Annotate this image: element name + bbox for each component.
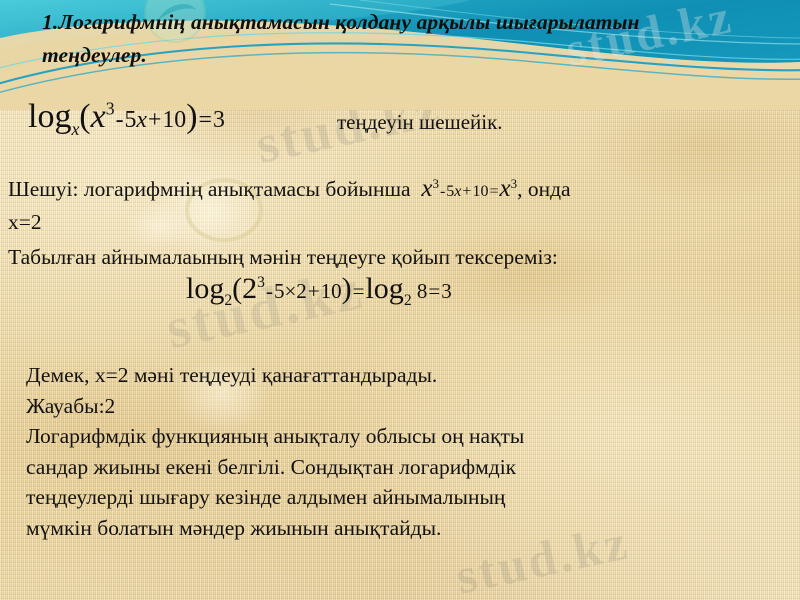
equation-1: logx(x3-5x+10)=3 bbox=[28, 100, 225, 134]
equation-2-result: 3 bbox=[441, 279, 452, 303]
conclusion-line: мүмкін болатын мәндер жиынын анықтайды. bbox=[26, 513, 726, 544]
plus-sign: + bbox=[461, 183, 472, 200]
exponent-3: 3 bbox=[432, 176, 439, 191]
plus-sign: + bbox=[147, 107, 162, 133]
log-word: log bbox=[28, 98, 71, 135]
paren-close: ) bbox=[342, 272, 352, 305]
log-base: 2 bbox=[404, 292, 412, 309]
paren-open: ( bbox=[79, 98, 90, 135]
variable-x: x bbox=[421, 175, 432, 202]
constant-10: 10 bbox=[162, 107, 186, 133]
minus-sign: - bbox=[265, 279, 274, 303]
conclusion-paragraph: Демек, x=2 мәні теңдеуді қанағаттандырад… bbox=[26, 360, 726, 543]
paren-close: ) bbox=[186, 98, 197, 135]
variable-x: x bbox=[136, 107, 147, 133]
equation-1-expression: logx(x3-5x+10)=3 bbox=[28, 98, 225, 135]
exponent-3: 3 bbox=[257, 274, 265, 291]
slide-content: 1.Логарифмнің анықтамасын қолдану арқылы… bbox=[0, 0, 800, 600]
conclusion-line: сандар жиыны екені белгілі. Сондықтан ло… bbox=[26, 452, 726, 483]
conclusion-line: теңдеулерді шығару кезінде алдымен айным… bbox=[26, 482, 726, 513]
conclusion-line: Логарифмдік функцияның анықталу облысы о… bbox=[26, 421, 726, 452]
constant-10: 10 bbox=[472, 183, 488, 200]
paren-open: ( bbox=[232, 272, 242, 305]
conclusion-line: Жауабы:2 bbox=[26, 391, 726, 422]
equation-2: log2(23-5×2+10)=log2 8=3 bbox=[186, 274, 452, 304]
log-base: 2 bbox=[224, 292, 232, 309]
equals-sign: = bbox=[427, 279, 441, 303]
log-word: log bbox=[365, 272, 403, 305]
equals-sign: = bbox=[352, 279, 366, 303]
x-value: x=2 bbox=[8, 210, 42, 235]
plus-sign: + bbox=[307, 279, 321, 303]
conclusion-line: Демек, x=2 мәні теңдеуді қанағаттандырад… bbox=[26, 360, 726, 391]
operand-2: 2 bbox=[296, 279, 307, 303]
log-value-8: 8 bbox=[417, 279, 428, 303]
note-solve-equation: теңдеуін шешейік. bbox=[337, 110, 503, 135]
solution-prefix: Шешуі: логарифмнің анықтамасы бойынша bbox=[8, 177, 411, 201]
constant-10: 10 bbox=[321, 279, 342, 303]
coefficient-5: 5 bbox=[274, 279, 285, 303]
number-2: 2 bbox=[242, 272, 257, 305]
multiply-sign: × bbox=[284, 279, 296, 303]
exponent-3: 3 bbox=[106, 99, 115, 119]
log-word: log bbox=[186, 272, 224, 305]
slide-title: 1.Логарифмнің анықтамасын қолдану арқылы… bbox=[42, 6, 682, 72]
equals-sign: = bbox=[488, 183, 499, 200]
slide-canvas: stud.kz stud.kz stud.kz bbox=[0, 0, 800, 600]
coefficient-5: 5 bbox=[125, 107, 137, 133]
solution-line: Шешуі: логарифмнің анықтамасы бойынша x3… bbox=[8, 175, 571, 203]
verification-line: Табылған айнымалаының мәнін теңдеуге қой… bbox=[8, 245, 558, 270]
variable-x: x bbox=[91, 98, 106, 135]
equation-1-result: 3 bbox=[213, 107, 225, 133]
solution-suffix: , онда bbox=[517, 177, 571, 201]
minus-sign: - bbox=[115, 107, 125, 133]
equals-sign: = bbox=[198, 107, 213, 133]
variable-x: x bbox=[499, 175, 510, 202]
solution-inline-math: x3-5x+10=x3 bbox=[411, 177, 517, 201]
